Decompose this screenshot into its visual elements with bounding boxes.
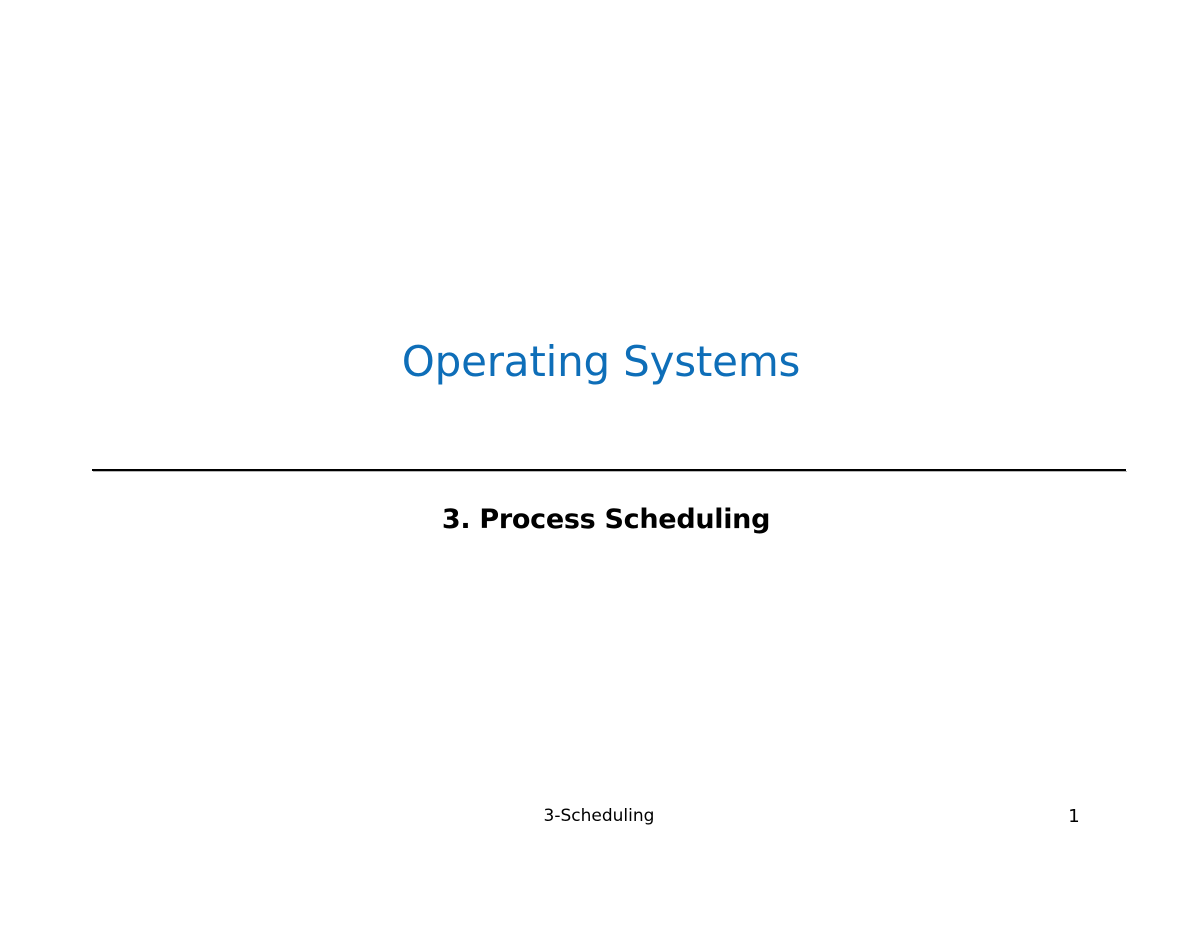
footer-label: 3-Scheduling xyxy=(0,806,1198,826)
divider-line-shadow xyxy=(93,471,1127,472)
page-title: Operating Systems xyxy=(0,338,1200,385)
title-divider xyxy=(92,469,1126,472)
slide-footer: 3-Scheduling 1 xyxy=(0,806,1200,832)
presentation-slide: Operating Systems 3. Process Scheduling … xyxy=(0,0,1200,927)
slide-subtitle: 3. Process Scheduling xyxy=(0,504,1200,536)
footer-page-number: 1 xyxy=(1042,806,1106,827)
